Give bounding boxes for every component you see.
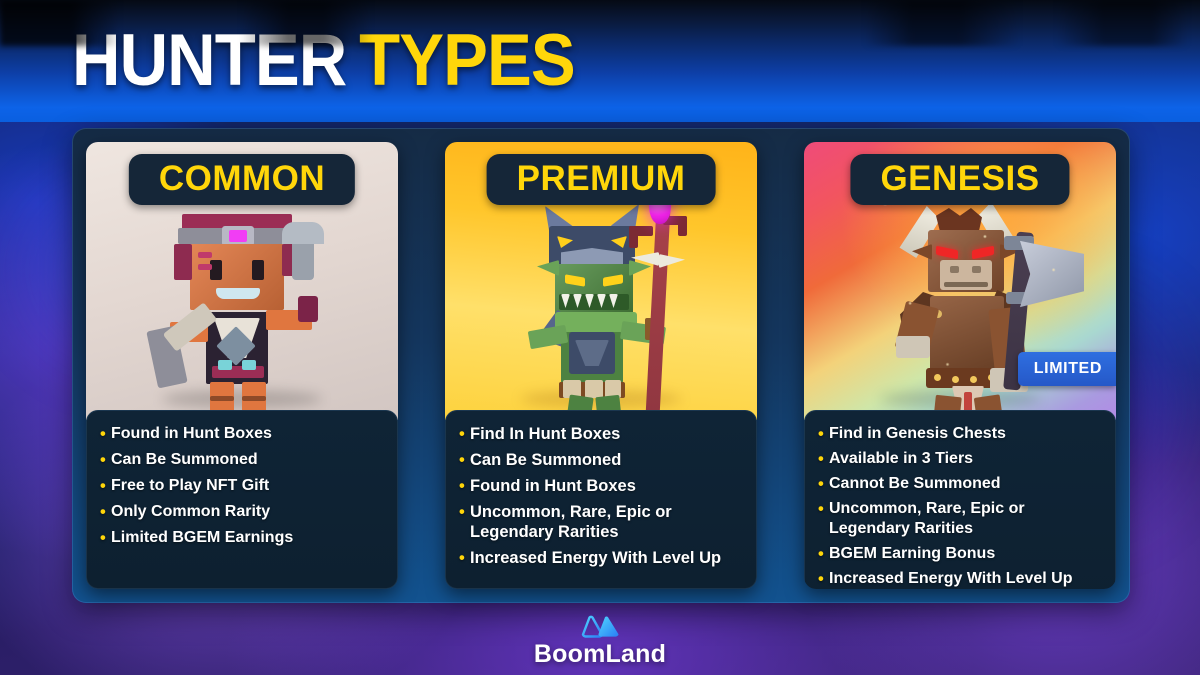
boomland-mountain-icon (578, 614, 622, 639)
card-art-genesis: GENESIS (804, 142, 1116, 420)
card-header-premium: PREMIUM (487, 154, 716, 205)
card-premium[interactable]: PREMIUM (445, 142, 757, 589)
list-item: Increased Energy With Level Up (818, 569, 1102, 589)
list-item: Only Common Rarity (100, 502, 384, 522)
character-common-hunter (86, 200, 398, 416)
list-item: Cannot Be Summoned (818, 474, 1102, 494)
hunter-types-infographic: HUNTERTYPES COMMON (0, 0, 1200, 675)
card-text-premium: Find In Hunt Boxes Can Be Summoned Found… (445, 410, 757, 589)
list-item: Uncommon, Rare, Epic or Legendary Rariti… (818, 499, 1102, 539)
status-badge-limited: LIMITED (1018, 352, 1116, 386)
card-common[interactable]: COMMON (86, 142, 398, 589)
card-header-genesis: GENESIS (850, 154, 1069, 205)
list-item: BGEM Earning Bonus (818, 544, 1102, 564)
footer-brand: BoomLand (0, 614, 1200, 669)
card-title-common: COMMON (159, 161, 325, 196)
card-text-genesis: Find in Genesis Chests Available in 3 Ti… (804, 410, 1116, 589)
card-text-common: Found in Hunt Boxes Can Be Summoned Free… (86, 410, 398, 589)
bullet-list-genesis: Find in Genesis Chests Available in 3 Ti… (818, 424, 1102, 589)
list-item: Find In Hunt Boxes (459, 424, 743, 444)
list-item: Limited BGEM Earnings (100, 528, 384, 548)
bullet-list-premium: Find In Hunt Boxes Can Be Summoned Found… (459, 424, 743, 568)
list-item: Increased Energy With Level Up (459, 548, 743, 568)
card-title-premium: PREMIUM (517, 161, 686, 196)
list-item: Uncommon, Rare, Epic or Legendary Rariti… (459, 502, 743, 542)
header-banner: HUNTERTYPES (0, 0, 1200, 122)
page-title-accent: TYPES (359, 20, 575, 101)
cards-panel: COMMON (72, 128, 1130, 603)
card-title-genesis: GENESIS (880, 161, 1039, 196)
list-item: Can Be Summoned (100, 450, 384, 470)
card-art-common: COMMON (86, 142, 398, 420)
page-title-primary: HUNTER (72, 20, 346, 101)
page-title: HUNTERTYPES (72, 26, 575, 96)
card-art-premium: PREMIUM (445, 142, 757, 420)
list-item: Free to Play NFT Gift (100, 476, 384, 496)
card-header-common: COMMON (129, 154, 355, 205)
character-premium-goblin-shaman (445, 200, 757, 416)
list-item: Available in 3 Tiers (818, 449, 1102, 469)
list-item: Can Be Summoned (459, 450, 743, 470)
list-item: Find in Genesis Chests (818, 424, 1102, 444)
list-item: Found in Hunt Boxes (100, 424, 384, 444)
list-item: Found in Hunt Boxes (459, 476, 743, 496)
card-genesis[interactable]: GENESIS (804, 142, 1116, 589)
brand-name: BoomLand (534, 640, 666, 669)
bullet-list-common: Found in Hunt Boxes Can Be Summoned Free… (100, 424, 384, 548)
